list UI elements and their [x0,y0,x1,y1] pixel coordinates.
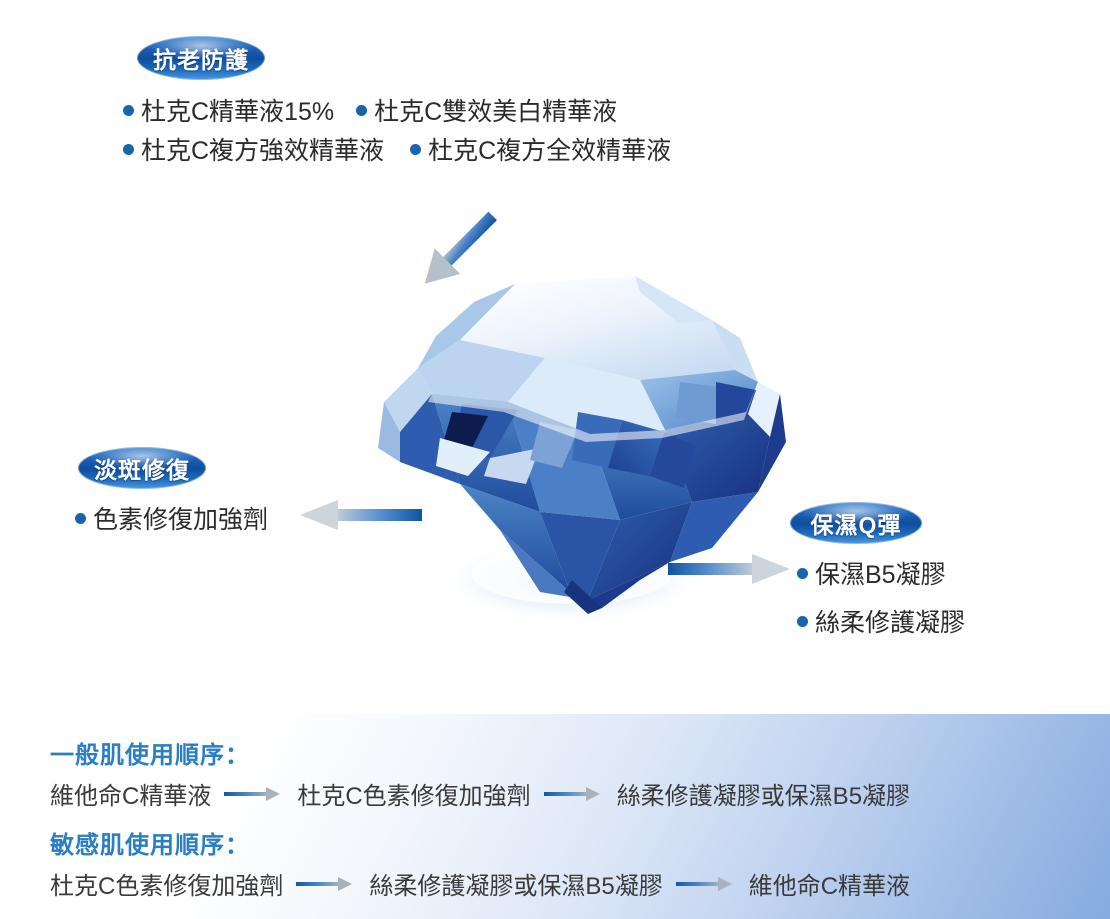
product-label: 杜克C精華液15% [141,92,334,128]
flow-arrow-icon [676,876,736,892]
list-item: 杜克C雙效美白精華液 [356,92,617,128]
bullet-dot-icon [410,144,421,155]
bullet-dot-icon [797,568,808,579]
infographic-page: 抗老防護 杜克C精華液15% 杜克C雙效美白精華液 杜克C複方強效精華液 杜克C… [0,0,1110,919]
badge-anti-aging: 抗老防護 [137,36,265,80]
list-item: 杜克C精華液15% [123,92,334,128]
list-item: 杜克C複方強效精華液 [123,131,384,167]
arrow-shaft [544,792,588,796]
usage-step: 杜克C色素修復加強劑 [297,776,530,811]
arrow-shaft [224,792,268,796]
arrow-left-to-spot-repair [298,498,422,532]
arrow-head [266,787,280,801]
flow-arrow-icon [544,786,604,802]
arrow-head [586,787,600,801]
usage-steps-sensitive: 杜克C色素修復加強劑 絲柔修護凝膠或保濕B5凝膠 維他命C精華液 [50,866,910,901]
arrow-head [338,877,352,891]
bullet-dot-icon [123,105,134,116]
hydration-line-2: 絲柔修護凝膠 [797,603,965,639]
product-label: 色素修復加強劑 [93,500,268,536]
list-item: 保濕B5凝膠 [797,555,946,591]
list-item: 絲柔修護凝膠 [797,603,965,639]
flow-arrow-icon [224,786,284,802]
anti-aging-line-1: 杜克C精華液15% 杜克C雙效美白精華液 [123,92,617,128]
flow-arrow-icon [296,876,356,892]
product-label: 絲柔修護凝膠 [815,603,965,639]
usage-step: 維他命C精華液 [749,866,910,901]
bullet-dot-icon [356,105,367,116]
list-item: 色素修復加強劑 [75,500,268,536]
hydration-line-1: 保濕B5凝膠 [797,555,946,591]
badge-spot-repair: 淡斑修復 [78,447,206,489]
usage-step: 絲柔修護凝膠或保濕B5凝膠 [369,866,662,901]
usage-step: 維他命C精華液 [50,776,211,811]
badge-hydration: 保濕Q彈 [790,502,922,544]
product-label: 杜克C雙效美白精華液 [374,92,617,128]
arrow-shaft [676,882,720,886]
usage-step: 絲柔修護凝膠或保濕B5凝膠 [617,776,910,811]
arrow-shaft [296,882,340,886]
bullet-dot-icon [797,616,808,627]
spot-repair-line-1: 色素修復加強劑 [75,500,268,536]
product-label: 保濕B5凝膠 [815,555,946,591]
product-label: 杜克C複方強效精華液 [141,131,384,167]
anti-aging-line-2: 杜克C複方強效精華液 杜克C複方全效精華液 [123,131,671,167]
usage-heading-normal: 一般肌使用順序： [50,735,250,770]
arrow-right-to-hydration [668,552,792,586]
usage-step: 杜克C色素修復加強劑 [50,866,283,901]
list-item: 杜克C複方全效精華液 [410,131,671,167]
usage-heading-sensitive: 敏感肌使用順序： [50,825,250,860]
arrow-up-left-to-anti-aging [398,192,528,302]
bullet-dot-icon [75,513,86,524]
bullet-dot-icon [123,144,134,155]
usage-steps-normal: 維他命C精華液 杜克C色素修復加強劑 絲柔修護凝膠或保濕B5凝膠 [50,776,910,811]
arrow-head [718,877,732,891]
product-label: 杜克C複方全效精華液 [428,131,671,167]
